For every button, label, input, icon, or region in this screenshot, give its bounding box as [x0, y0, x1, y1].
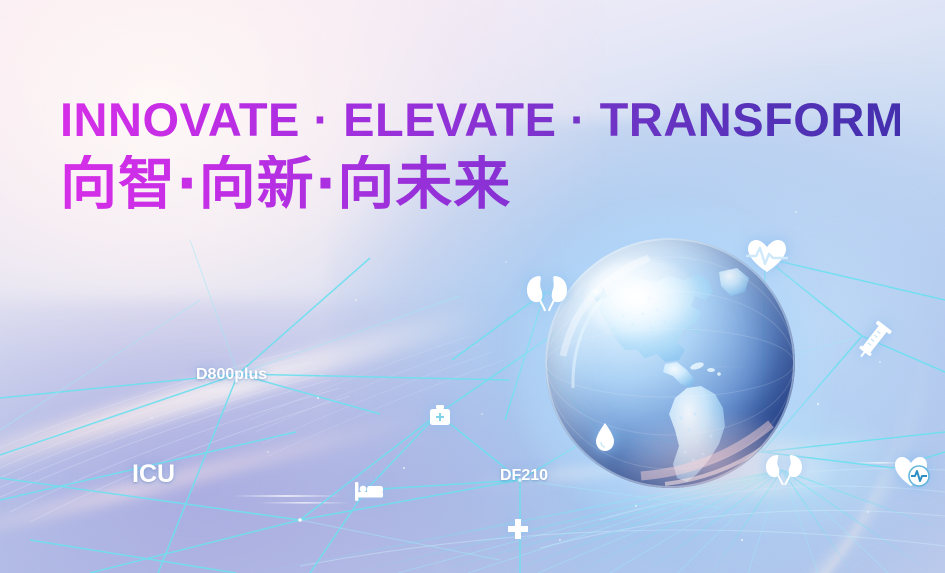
headline-chinese: 向智·向新·向未来: [60, 155, 900, 215]
crystal-globe: [545, 238, 795, 488]
label-d800plus: D800plus: [196, 366, 267, 384]
hospital-bed-icon[interactable]: [354, 480, 384, 502]
medical-cross-icon[interactable]: [507, 518, 529, 540]
heart-pulse-icon[interactable]: [746, 238, 788, 274]
label-icu: ICU: [132, 460, 175, 489]
label-df210: DF210: [500, 467, 548, 485]
water-drop-icon[interactable]: [593, 422, 617, 452]
heart-monitor-icon[interactable]: [893, 455, 931, 489]
headline-block: INNOVATE · ELEVATE · TRANSFORM 向智·向新·向未来: [60, 96, 900, 215]
medical-bag-icon[interactable]: [428, 403, 452, 427]
syringe-icon[interactable]: [852, 318, 896, 362]
kidneys-icon[interactable]: [524, 272, 570, 312]
kidneys-icon[interactable]: [764, 452, 804, 486]
hero-banner: D800plus ICU DF210 INNOVATE · ELEVATE · …: [0, 0, 945, 573]
headline-english: INNOVATE · ELEVATE · TRANSFORM: [60, 96, 900, 143]
